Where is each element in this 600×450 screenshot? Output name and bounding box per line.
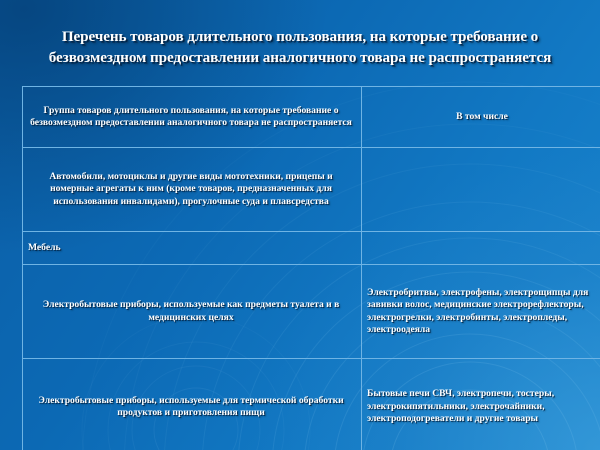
row-group-furniture: Мебель (23, 232, 362, 265)
slide-canvas: Перечень товаров длительного пользования… (0, 0, 600, 450)
row-group-toiletry-appliances: Электробытовые приборы, используемые как… (23, 265, 362, 359)
table-header-group: Группа товаров длительного пользования, … (23, 87, 362, 148)
product-table: Группа товаров длительного пользования, … (22, 86, 600, 450)
row-details-furniture (362, 232, 600, 265)
row-group-cooking-appliances: Электробытовые приборы, используемые для… (23, 359, 362, 450)
table-row: Электробытовые приборы, используемые как… (23, 265, 600, 359)
row-details-toiletry-appliances: Электробритвы, электрофены, электрощипцы… (362, 265, 600, 359)
slide-title: Перечень товаров длительного пользования… (14, 26, 586, 68)
table-header-details: В том числе (362, 87, 600, 148)
table-row: Автомобили, мотоциклы и другие виды мото… (23, 148, 600, 232)
row-details-vehicles (362, 148, 600, 232)
table-row: Мебель (23, 232, 600, 265)
table-row: Электробытовые приборы, используемые для… (23, 359, 600, 450)
table-header-row: Группа товаров длительного пользования, … (23, 87, 600, 148)
row-group-vehicles: Автомобили, мотоциклы и другие виды мото… (23, 148, 362, 232)
row-details-cooking-appliances: Бытовые печи СВЧ, электропечи, тостеры, … (362, 359, 600, 450)
product-table-container: Группа товаров длительного пользования, … (22, 86, 578, 450)
